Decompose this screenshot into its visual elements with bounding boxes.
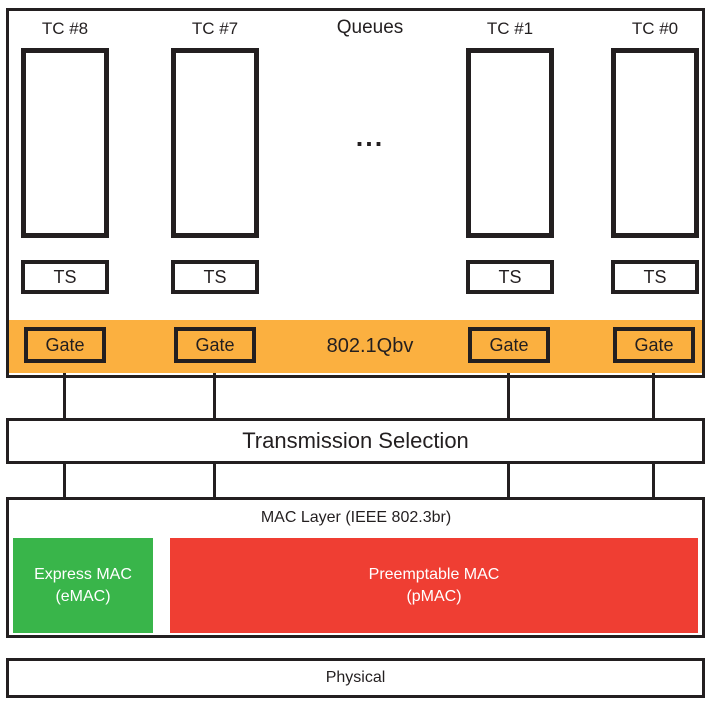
gate-box-0[interactable]: Gate [24, 327, 106, 363]
ts-box-0: TS [21, 260, 109, 294]
ts-box-label-3: TS [643, 267, 666, 288]
diagram-canvas: TC #8 TC #7 TC #1 TC #0 Queues ... TS TS… [0, 0, 712, 706]
queue-box-3 [611, 48, 699, 238]
ts-box-3: TS [611, 260, 699, 294]
connector-line-qbv-ts-1 [213, 373, 216, 419]
gate-box-label-1: Gate [195, 335, 234, 356]
mac-layer-title: MAC Layer (IEEE 802.3br) [206, 509, 506, 527]
express-mac-label-line2: (eMAC) [55, 586, 110, 608]
queues-title: Queues [296, 17, 444, 39]
ts-box-label-0: TS [53, 267, 76, 288]
gate-box-label-2: Gate [489, 335, 528, 356]
gate-box-1[interactable]: Gate [174, 327, 256, 363]
physical-layer-box: Physical [6, 658, 705, 698]
ts-box-1: TS [171, 260, 259, 294]
preemptable-mac-label-line2: (pMAC) [406, 586, 461, 608]
ts-box-2: TS [466, 260, 554, 294]
gate-box-2[interactable]: Gate [468, 327, 550, 363]
connector-line-qbv-ts-0 [63, 373, 66, 419]
preemptable-mac-label-line1: Preemptable MAC [369, 564, 500, 586]
express-mac-block: Express MAC (eMAC) [13, 538, 153, 633]
qbv-label: 802.1Qbv [280, 335, 460, 358]
tc-label-0: TC #8 [21, 20, 109, 37]
queue-box-1 [171, 48, 259, 238]
express-mac-label-line1: Express MAC [34, 564, 132, 586]
connector-line-qbv-ts-2 [507, 373, 510, 419]
ts-box-label-2: TS [498, 267, 521, 288]
ts-box-label-1: TS [203, 267, 226, 288]
gate-box-label-3: Gate [634, 335, 673, 356]
connector-line-qbv-ts-3 [652, 373, 655, 419]
transmission-selection-label: Transmission Selection [242, 428, 469, 454]
tc-label-1: TC #7 [171, 20, 259, 37]
gate-box-label-0: Gate [45, 335, 84, 356]
tc-label-2: TC #1 [466, 20, 554, 37]
queue-box-0 [21, 48, 109, 238]
queues-ellipsis: ... [330, 124, 410, 151]
preemptable-mac-block: Preemptable MAC (pMAC) [170, 538, 698, 633]
physical-layer-label: Physical [326, 669, 386, 687]
queue-box-2 [466, 48, 554, 238]
gate-box-3[interactable]: Gate [613, 327, 695, 363]
tc-label-3: TC #0 [611, 20, 699, 37]
transmission-selection-box: Transmission Selection [6, 418, 705, 464]
